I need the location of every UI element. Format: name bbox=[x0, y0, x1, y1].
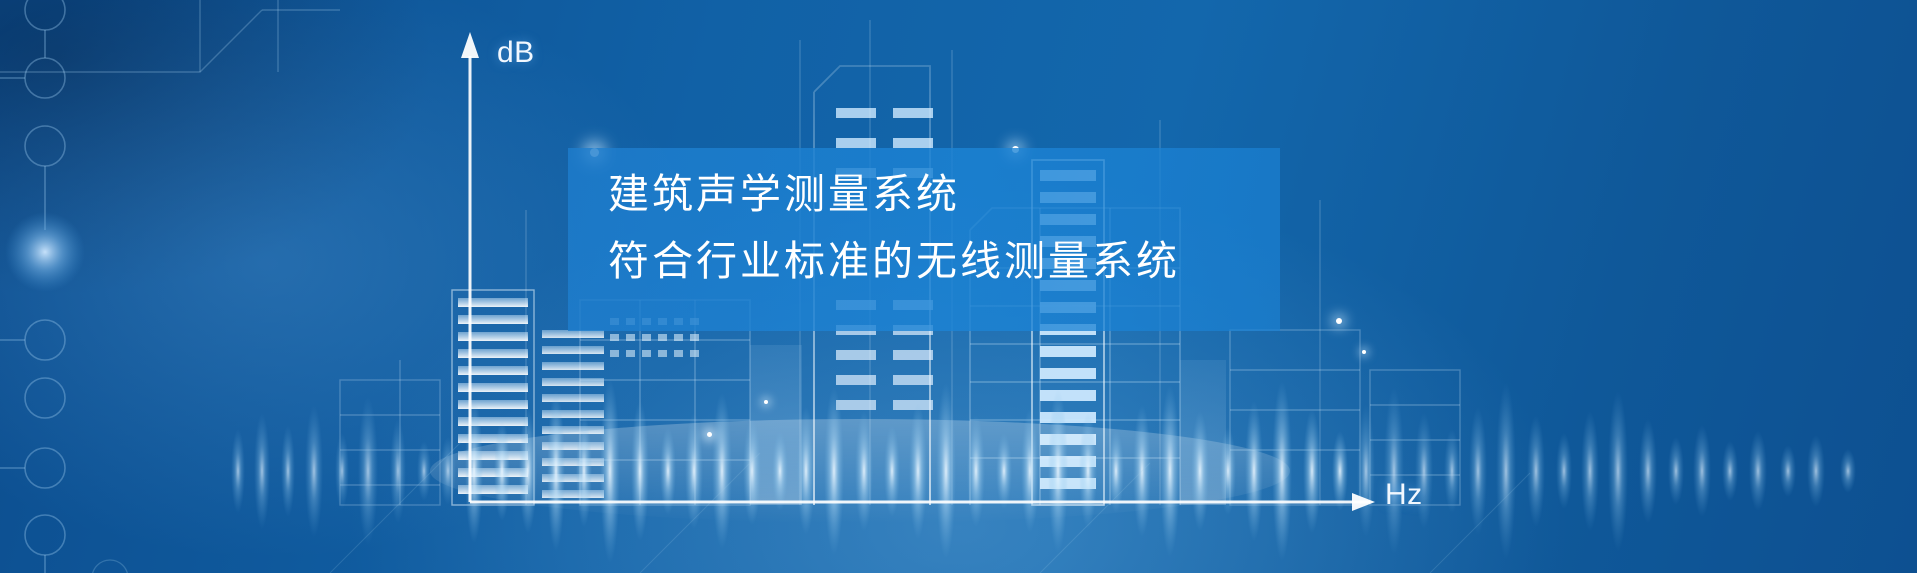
audio-waveform-icon bbox=[0, 323, 1917, 573]
circuit-nodes-icon bbox=[0, 0, 420, 573]
page-title: 建筑声学测量系统 bbox=[608, 174, 1280, 215]
y-axis-label: dB bbox=[497, 36, 535, 70]
glow-dot bbox=[1362, 350, 1366, 354]
glow-dot bbox=[764, 400, 768, 404]
arrow-up-icon bbox=[461, 32, 479, 58]
x-axis-label: Hz bbox=[1385, 478, 1423, 512]
hero-banner: dB Hz 建筑声学测量系统 符合行业标准的无线测量系统 bbox=[0, 0, 1917, 573]
arrow-right-icon bbox=[1352, 493, 1375, 511]
glow-dot bbox=[1336, 318, 1342, 324]
glow-dot bbox=[707, 432, 712, 437]
page-subtitle: 符合行业标准的无线测量系统 bbox=[608, 241, 1280, 282]
headline-panel: 建筑声学测量系统 符合行业标准的无线测量系统 bbox=[568, 148, 1280, 331]
